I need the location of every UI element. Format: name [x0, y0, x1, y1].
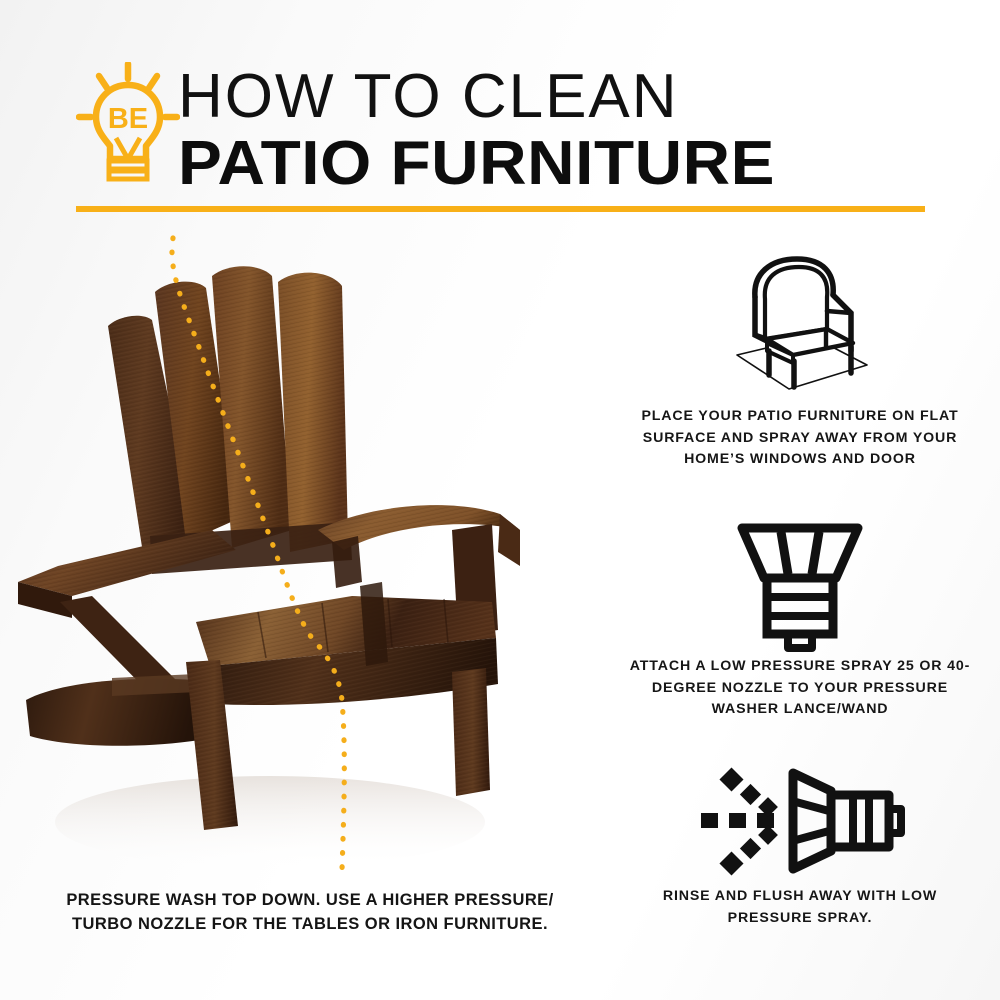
chair-photo-panel — [0, 230, 600, 880]
title-line-how-to-clean: HOW TO CLEAN — [178, 66, 950, 128]
logo-be-text: BE — [108, 103, 148, 135]
step-2-text: ATTACH A LOW PRESSURE SPRAY 25 OR 40-DEG… — [600, 656, 1000, 721]
be-lightbulb-icon: BE — [76, 62, 180, 190]
be-lightbulb-logo: BE — [76, 62, 180, 190]
bulb-base-ring-2 — [109, 171, 147, 179]
wooden-adirondack-chair-illustration — [0, 230, 600, 880]
photo-caption-line-2: TURBO NOZZLE FOR THE TABLES OR IRON FURN… — [30, 912, 590, 936]
steps-column: PLACE YOUR PATIO FURNITURE ON FLAT SURFA… — [600, 236, 1000, 936]
step-1: PLACE YOUR PATIO FURNITURE ON FLAT SURFA… — [600, 246, 1000, 471]
pressure-washer-nozzle-icon — [600, 516, 1000, 656]
header: BE HOW TO CLEAN PATIO FURNITURE — [0, 0, 1000, 230]
step-1-text: PLACE YOUR PATIO FURNITURE ON FLAT SURFA… — [600, 406, 1000, 471]
spray-icon-svg — [695, 765, 905, 877]
spray-nozzle-with-water-icon — [600, 756, 1000, 886]
photo-caption: PRESSURE WASH TOP DOWN. USE A HIGHER PRE… — [30, 888, 590, 936]
chair-back-slats — [108, 266, 348, 560]
page-title: HOW TO CLEAN PATIO FURNITURE — [178, 66, 950, 195]
step-3: RINSE AND FLUSH AWAY WITH LOW PRESSURE S… — [600, 756, 1000, 929]
chair-reflection — [55, 776, 485, 868]
step-3-text: RINSE AND FLUSH AWAY WITH LOW PRESSURE S… — [600, 886, 1000, 929]
infographic-page: BE HOW TO CLEAN PATIO FURNITURE — [0, 0, 1000, 1000]
photo-caption-line-1: PRESSURE WASH TOP DOWN. USE A HIGHER PRE… — [30, 888, 590, 912]
patio-chair-on-flat-surface-icon — [600, 246, 1000, 406]
water-spray-particles — [701, 767, 778, 875]
nozzle-icon-svg — [736, 520, 864, 652]
bulb-base-ring-1 — [109, 161, 147, 169]
chair-on-mat-icon-svg — [705, 251, 895, 401]
header-divider-rule — [76, 206, 925, 212]
title-line-patio-furniture: PATIO FURNITURE — [178, 133, 996, 195]
step-2: ATTACH A LOW PRESSURE SPRAY 25 OR 40-DEG… — [600, 516, 1000, 721]
